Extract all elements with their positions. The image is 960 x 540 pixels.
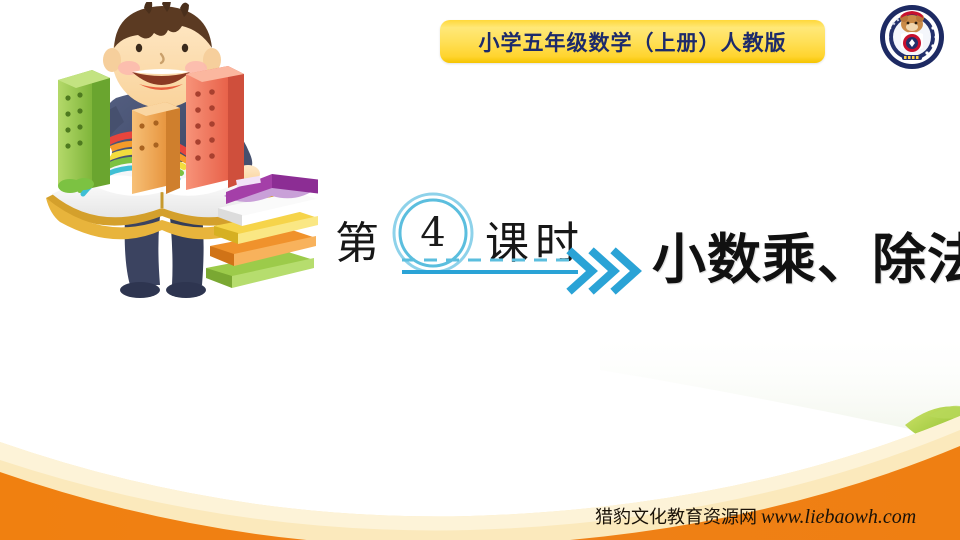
- boy-with-popup-book-illustration: [8, 2, 318, 307]
- lesson-heading-row: 第 4 课时 小数乘、除法: [330, 185, 950, 300]
- footer-url: www.liebaowh.com: [757, 506, 916, 528]
- page-title: 小数乘、除法: [652, 215, 960, 294]
- liebao-mascot-badge-icon: [879, 4, 945, 70]
- course-banner: 小学五年级数学（上册）人教版: [440, 20, 825, 63]
- slide-canvas: 小学五年级数学（上册）人教版: [0, 0, 960, 540]
- dashed-arrow-icon: [392, 247, 647, 297]
- footer-watermark: 猎豹文化教育资源网www.liebaowh.com: [595, 504, 955, 534]
- lesson-prefix-label: 第: [335, 207, 379, 271]
- course-banner-label: 小学五年级数学（上册）人教版: [479, 27, 787, 57]
- footer-site-name: 猎豹文化教育资源网: [595, 507, 757, 528]
